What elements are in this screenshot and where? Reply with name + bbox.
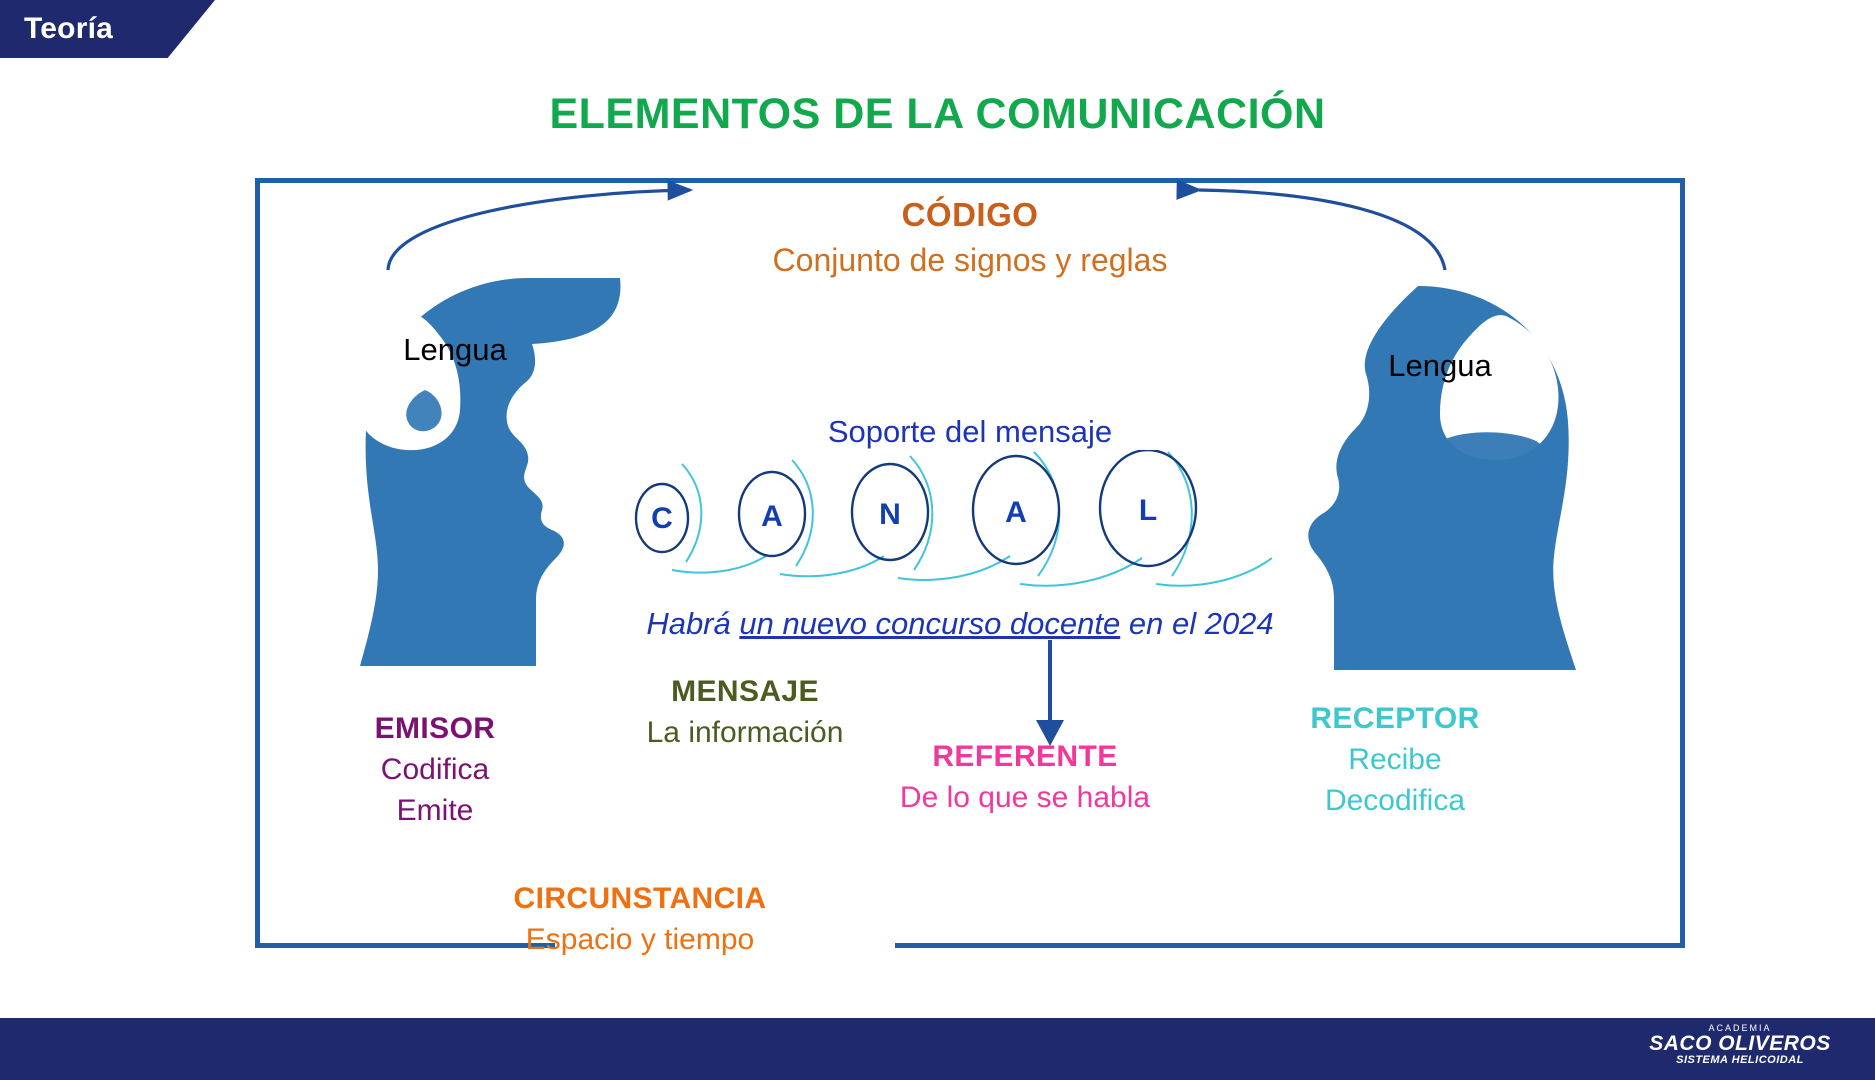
codigo-block: CÓDIGO Conjunto de signos y reglas — [690, 196, 1250, 279]
referente-down-arrow — [1020, 640, 1080, 750]
mensaje-title: MENSAJE — [600, 675, 890, 709]
receptor-brain-label: Lengua — [1365, 348, 1515, 384]
page-title: ELEMENTOS DE LA COMUNICACIÓN — [0, 90, 1875, 139]
emisor-brain-label: Lengua — [380, 332, 530, 368]
canal-letter-0: C — [642, 502, 682, 536]
circunstancia-line-1: Espacio y tiempo — [440, 923, 840, 957]
canal-letter-4: L — [1128, 494, 1168, 528]
mensaje-underlined-part: un nuevo concurso docente — [739, 606, 1120, 641]
canal-wave-graphic — [620, 450, 1280, 595]
receptor-title: RECEPTOR — [1245, 702, 1545, 736]
brand-logo: ACADEMIA SACO OLIVEROS SISTEMA HELICOIDA… — [1645, 1024, 1835, 1074]
receptor-line-1: Recibe — [1245, 743, 1545, 777]
section-ribbon-tab: Teoría — [0, 0, 215, 58]
canal-letter-3: A — [996, 496, 1036, 530]
codigo-title: CÓDIGO — [690, 196, 1250, 234]
circunstancia-title: CIRCUNSTANCIA — [440, 882, 840, 916]
emisor-line-1: Codifica — [300, 753, 570, 787]
ribbon-label: Teoría — [0, 12, 113, 46]
brand-logo-name: SACO OLIVEROS — [1645, 1033, 1835, 1055]
canal-caption: Soporte del mensaje — [700, 414, 1240, 450]
referente-label-group: REFERENTE De lo que se habla — [830, 740, 1220, 815]
circunstancia-label-group: CIRCUNSTANCIA Espacio y tiempo — [440, 882, 840, 957]
referente-line-1: De lo que se habla — [830, 781, 1220, 815]
mensaje-example-sentence: Habrá un nuevo concurso docente en el 20… — [560, 606, 1360, 642]
mensaje-suffix: en el 2024 — [1120, 606, 1273, 641]
footer-bar — [0, 1018, 1875, 1080]
mensaje-label-group: MENSAJE La información — [600, 675, 890, 750]
emisor-label-group: EMISOR Codifica Emite — [300, 712, 570, 828]
emisor-title: EMISOR — [300, 712, 570, 746]
codigo-subtitle: Conjunto de signos y reglas — [690, 242, 1250, 279]
canal-letter-2: N — [870, 498, 910, 532]
canal-letter-1: A — [752, 500, 792, 534]
receptor-label-group: RECEPTOR Recibe Decodifica — [1245, 702, 1545, 818]
receptor-line-2: Decodifica — [1245, 784, 1545, 818]
referente-title: REFERENTE — [830, 740, 1220, 774]
mensaje-prefix: Habrá — [646, 606, 739, 641]
emisor-line-2: Emite — [300, 794, 570, 828]
brand-logo-tagline: SISTEMA HELICOIDAL — [1645, 1055, 1835, 1067]
